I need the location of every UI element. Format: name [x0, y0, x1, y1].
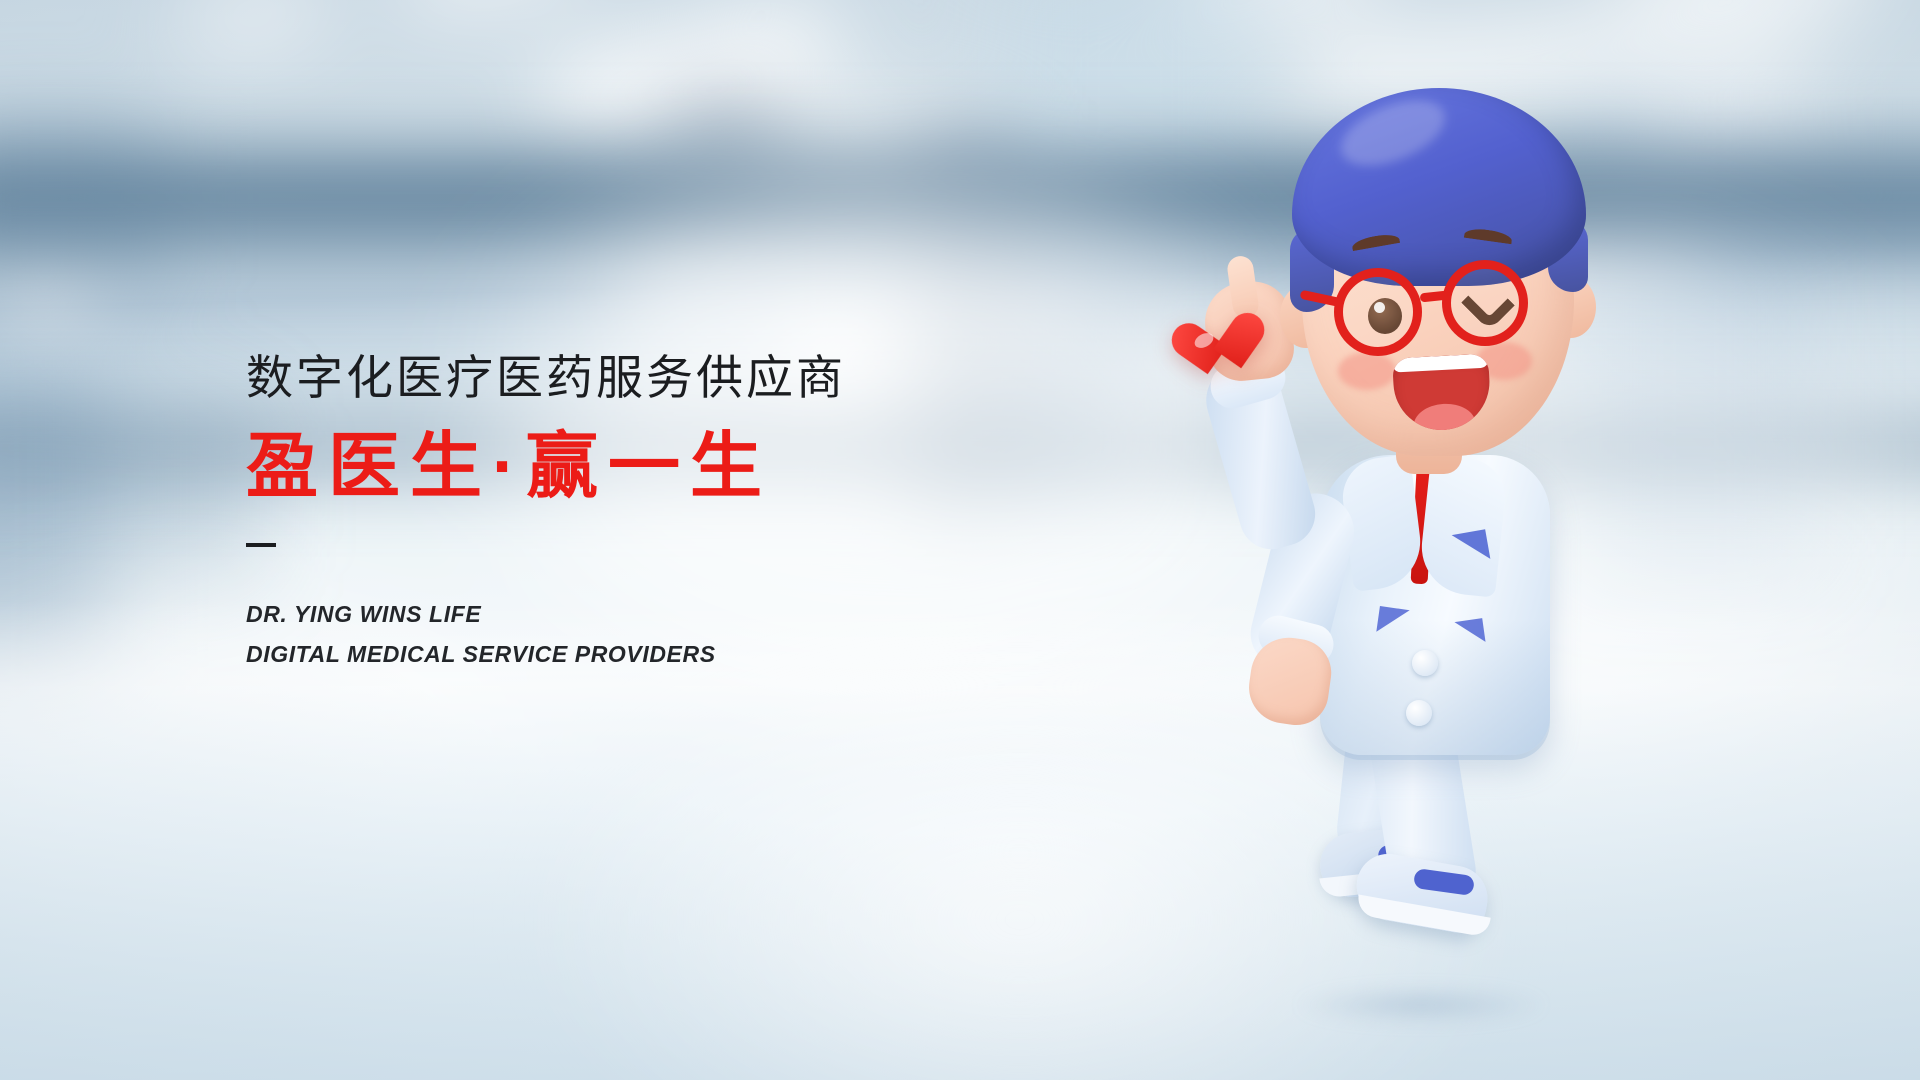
subtitle-en: DR. YING WINS LIFE DIGITAL MEDICAL SERVI… — [246, 595, 1066, 674]
banner-stage: 数字化医疗医药服务供应商 盈医生·赢一生 DR. YING WINS LIFE … — [0, 0, 1920, 1080]
subtitle-line-2: DIGITAL MEDICAL SERVICE PROVIDERS — [246, 635, 1066, 675]
glasses-lens-left-icon — [1334, 268, 1422, 356]
heart-icon — [1171, 317, 1243, 389]
character-coat-button-2 — [1406, 700, 1432, 726]
character-coat-shading — [1320, 620, 1550, 760]
page-headline: 数字化医疗医药服务供应商 — [246, 352, 1066, 405]
glasses-lens-right-icon — [1442, 260, 1528, 346]
character-cheek-left — [1338, 352, 1396, 390]
character-coat-accent-1 — [1452, 529, 1491, 564]
doctor-character-illustration — [1228, 60, 1648, 1040]
character-coat-accent-2 — [1376, 606, 1409, 636]
character-coat-accent-3 — [1454, 618, 1485, 646]
text-divider — [246, 543, 276, 547]
hero-text-block: 数字化医疗医药服务供应商 盈医生·赢一生 DR. YING WINS LIFE … — [246, 352, 1066, 674]
character-tongue — [1413, 402, 1477, 432]
subtitle-line-1: DR. YING WINS LIFE — [246, 595, 1066, 635]
character-coat-button-1 — [1412, 650, 1438, 676]
page-tagline: 盈医生·赢一生 — [246, 427, 1066, 508]
character-lapel-right — [1417, 454, 1509, 597]
